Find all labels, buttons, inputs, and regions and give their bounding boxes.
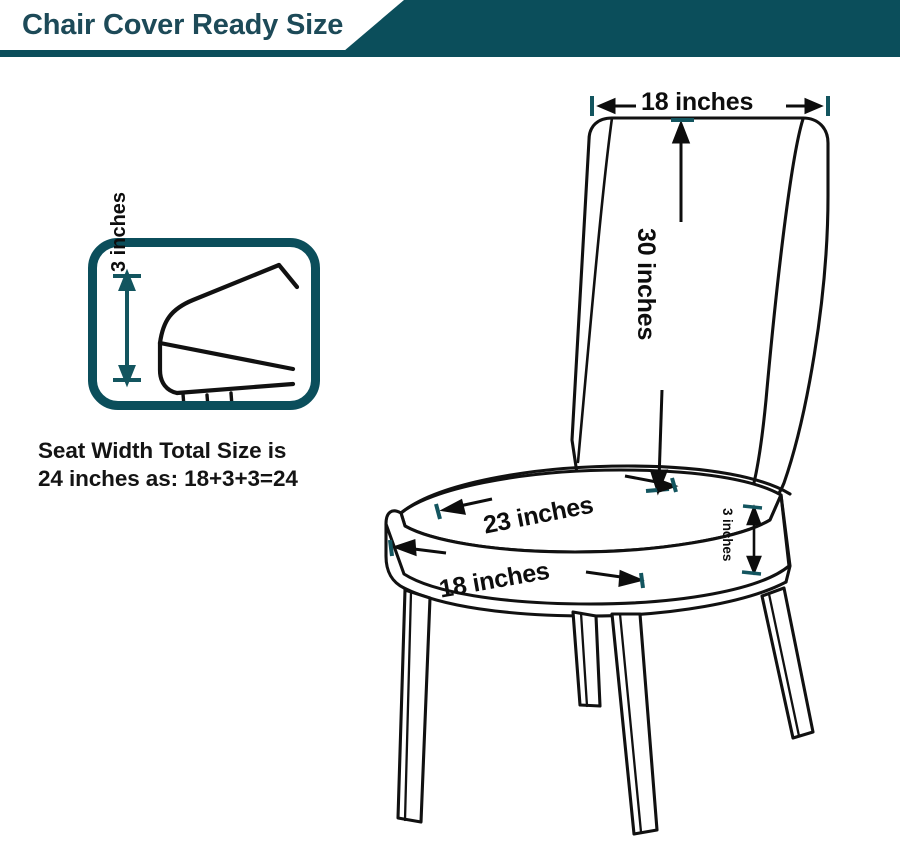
skirt-tick-top: [743, 506, 762, 508]
front-tick-right: [641, 573, 643, 588]
dimension-label-skirt-depth: 3 inches: [720, 508, 735, 561]
chair-back-panel: [572, 118, 828, 512]
dimension-label-back-height: 30 inches: [631, 228, 660, 340]
chair-illustration: [0, 0, 900, 845]
width-arrow-right-head: [806, 100, 820, 112]
width-arrow-left-head: [600, 100, 614, 112]
chair-leg-back-right: [762, 588, 813, 738]
skirt-tick-bottom: [742, 572, 761, 574]
chair-leg-front-left: [398, 590, 430, 822]
front-tick-left: [390, 540, 392, 556]
chair-size-diagram-page: Chair Cover Ready Size: [0, 0, 900, 845]
chair-leg-front-right: [612, 614, 657, 834]
dimension-label-back-width: 18 inches: [641, 88, 753, 117]
chair-outline-group: [386, 118, 828, 834]
